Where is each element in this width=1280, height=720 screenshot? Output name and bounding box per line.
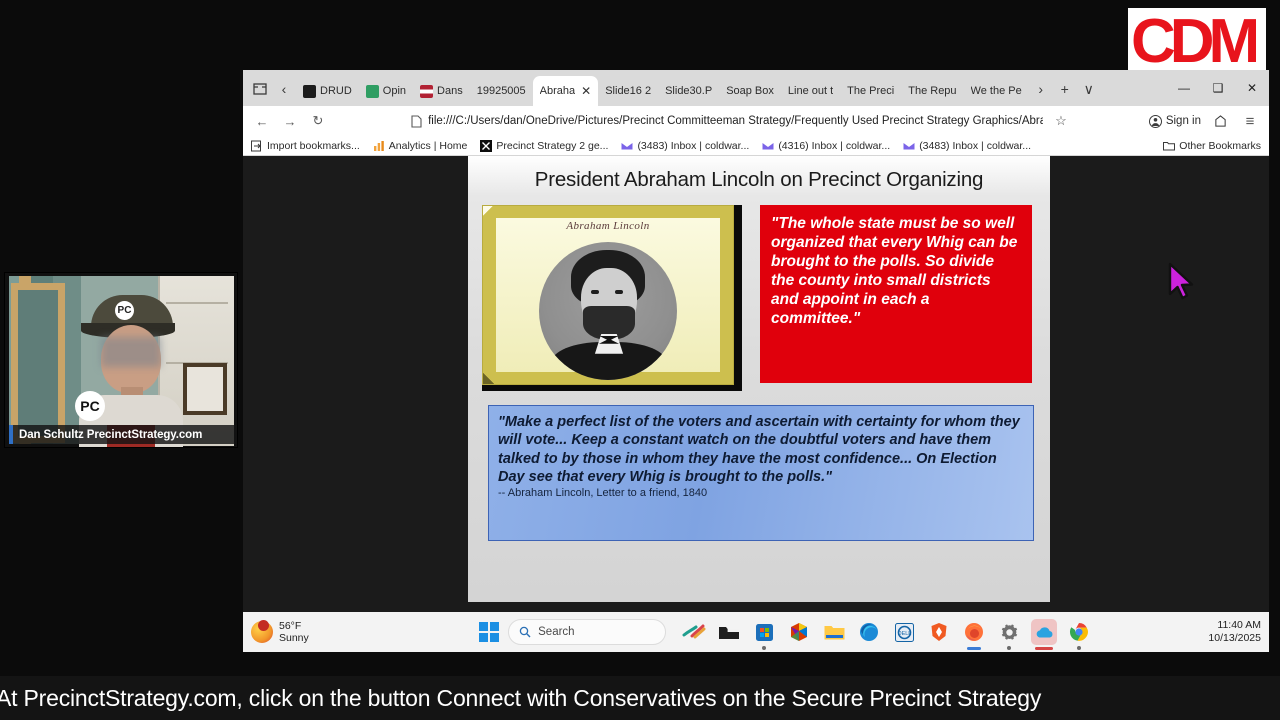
bookmark-label: (4316) Inbox | coldwar... xyxy=(778,140,890,152)
firefox-icon[interactable] xyxy=(961,619,987,645)
tab-list: DRUD Opin Dans 19925005 Abraha ✕ xyxy=(296,74,1167,106)
red-quote-box: "The whole state must be so well organiz… xyxy=(760,205,1032,383)
browser-window: ‹ DRUD Opin Dans 19925005 Ab xyxy=(243,70,1269,652)
minimize-button[interactable]: — xyxy=(1167,74,1201,102)
weather-temperature: 56°F xyxy=(279,620,309,632)
reload-icon[interactable]: ↻ xyxy=(307,110,329,132)
page-icon xyxy=(411,115,422,128)
dell-icon[interactable]: DELL xyxy=(891,619,917,645)
tab-slide30[interactable]: Slide30.P xyxy=(658,76,719,106)
drudge-favicon xyxy=(303,85,316,98)
import-icon xyxy=(251,140,263,152)
other-bookmarks-label: Other Bookmarks xyxy=(1179,140,1261,152)
bookmark-label: Analytics | Home xyxy=(389,140,468,152)
lincoln-portrait-frame: Abraham Lincoln xyxy=(482,205,742,391)
blue-quote-attribution: -- Abraham Lincoln, Letter to a friend, … xyxy=(498,487,1024,499)
webcam-overlay: PC PC Dan Schultz PrecinctStrategy.com xyxy=(4,272,238,448)
microsoft-365-icon[interactable] xyxy=(786,619,812,645)
tab-label: Slide16 2 xyxy=(605,85,651,97)
windows-taskbar: 56°F Sunny Search xyxy=(243,612,1269,652)
folder-icon xyxy=(1163,140,1175,152)
blue-quote-box: "Make a perfect list of the voters and a… xyxy=(488,405,1034,541)
slide-image: President Abraham Lincoln on Precinct Or… xyxy=(468,156,1050,602)
tab-label: Slide30.P xyxy=(665,85,712,97)
caption-text: At PrecinctStrategy.com, click on the bu… xyxy=(0,685,1041,712)
caption-bar: At PrecinctStrategy.com, click on the bu… xyxy=(0,676,1280,720)
speaker-name-bar: Dan Schultz PrecinctStrategy.com xyxy=(9,425,237,444)
microsoft-store-icon[interactable] xyxy=(751,619,777,645)
paint-icon[interactable] xyxy=(681,619,707,645)
weather-condition: Sunny xyxy=(279,632,309,644)
tab-label: Line out t xyxy=(788,85,833,97)
tab-lineout[interactable]: Line out t xyxy=(781,76,840,106)
cdm-logo: CDM xyxy=(1128,8,1266,78)
profile-icon xyxy=(1149,115,1162,128)
bookmark-import[interactable]: Import bookmarks... xyxy=(251,140,360,152)
lincoln-portrait xyxy=(539,242,677,380)
tab-label: 19925005 xyxy=(477,85,526,97)
lincoln-signature: Abraham Lincoln xyxy=(496,220,720,232)
bookmark-inbox-1[interactable]: (3483) Inbox | coldwar... xyxy=(621,140,749,152)
new-tab-button[interactable]: + xyxy=(1053,74,1077,104)
onedrive-icon[interactable] xyxy=(1031,619,1057,645)
tab-slide16[interactable]: Slide16 2 xyxy=(598,76,658,106)
tab-soapbox[interactable]: Soap Box xyxy=(719,76,781,106)
tab-the-republic[interactable]: The Repu xyxy=(901,76,963,106)
tab-abraham[interactable]: Abraha ✕ xyxy=(533,76,599,106)
bookmark-label: (3483) Inbox | coldwar... xyxy=(637,140,749,152)
flag-favicon xyxy=(420,85,433,98)
tab-list-menu-icon[interactable]: ∨ xyxy=(1077,74,1101,104)
tab-label: The Repu xyxy=(908,85,956,97)
tab-label: Soap Box xyxy=(726,85,774,97)
settings-icon[interactable] xyxy=(996,619,1022,645)
toolbar-right: Sign in ≡ xyxy=(1149,110,1261,132)
shirt-pc-badge: PC xyxy=(75,391,105,421)
mail-icon xyxy=(903,140,915,152)
letterbox-bottom xyxy=(0,652,1280,676)
cap-pc-badge: PC xyxy=(115,301,134,320)
other-bookmarks-button[interactable]: Other Bookmarks xyxy=(1163,140,1261,152)
tab-label: Dans xyxy=(437,85,463,97)
tab-dans[interactable]: Dans xyxy=(413,76,470,106)
blue-quote-text: "Make a perfect list of the voters and a… xyxy=(498,413,1024,487)
maximize-button[interactable]: ❑ xyxy=(1201,74,1235,102)
extensions-icon[interactable] xyxy=(1209,110,1231,132)
mouse-cursor xyxy=(1166,262,1196,309)
tab-opinion[interactable]: Opin xyxy=(359,76,413,106)
folder-icon[interactable] xyxy=(821,619,847,645)
taskbar-clock[interactable]: 11:40 AM 10/13/2025 xyxy=(1208,619,1261,645)
tab-the-precinct[interactable]: The Preci xyxy=(840,76,901,106)
opinion-favicon xyxy=(366,85,379,98)
weather-widget[interactable]: 56°F Sunny xyxy=(251,620,421,645)
slide-top-row: Abraham Lincoln xyxy=(468,195,1050,391)
sign-in-button[interactable]: Sign in xyxy=(1149,115,1201,128)
tab-drudge[interactable]: DRUD xyxy=(296,76,359,106)
address-bar[interactable]: file:///C:/Users/dan/OneDrive/Pictures/P… xyxy=(335,110,1143,132)
analytics-icon xyxy=(373,140,385,152)
tab-strip: ‹ DRUD Opin Dans 19925005 Ab xyxy=(243,70,1269,106)
tab-19925005[interactable]: 19925005 xyxy=(470,76,533,106)
bookmarks-bar: Import bookmarks... Analytics | Home Pre… xyxy=(243,136,1269,156)
bookmark-inbox-3[interactable]: (3483) Inbox | coldwar... xyxy=(903,140,1031,152)
clock-time: 11:40 AM xyxy=(1208,619,1261,632)
close-icon[interactable]: ✕ xyxy=(581,84,591,98)
tab-scroll-right-icon[interactable]: › xyxy=(1029,74,1053,104)
chrome-icon[interactable] xyxy=(1066,619,1092,645)
face-blur xyxy=(101,337,161,367)
bookmark-label: Precinct Strategy 2 ge... xyxy=(496,140,608,152)
start-button[interactable] xyxy=(479,622,499,642)
close-window-button[interactable]: ✕ xyxy=(1235,74,1269,102)
bookmark-analytics[interactable]: Analytics | Home xyxy=(373,140,468,152)
tab-label: We the Pe xyxy=(971,85,1022,97)
navigation-bar: ← → ↻ file:///C:/Users/dan/OneDrive/Pict… xyxy=(243,106,1269,136)
tab-scroll-left-icon[interactable]: ‹ xyxy=(272,74,296,104)
tab-search-icon[interactable] xyxy=(248,72,272,104)
bookmark-inbox-2[interactable]: (4316) Inbox | coldwar... xyxy=(762,140,890,152)
search-icon xyxy=(519,626,531,638)
x-icon xyxy=(480,140,492,152)
sign-in-label: Sign in xyxy=(1166,115,1201,127)
door-frame xyxy=(11,283,65,443)
mail-icon xyxy=(621,140,633,152)
svg-text:DELL: DELL xyxy=(897,631,911,637)
url-text: file:///C:/Users/dan/OneDrive/Pictures/P… xyxy=(428,115,1043,127)
tab-label: DRUD xyxy=(320,85,352,97)
forward-icon[interactable]: → xyxy=(279,110,301,132)
wall-picture xyxy=(183,363,227,415)
clock-date: 10/13/2025 xyxy=(1208,632,1261,645)
weather-sun-icon xyxy=(251,621,273,643)
tab-label: The Preci xyxy=(847,85,894,97)
mail-icon xyxy=(762,140,774,152)
taskbar-center: Search xyxy=(479,619,1092,645)
letterbox-right xyxy=(1269,70,1280,652)
edge-icon[interactable] xyxy=(856,619,882,645)
window-controls: — ❑ ✕ xyxy=(1167,74,1269,102)
page-viewport: President Abraham Lincoln on Precinct Or… xyxy=(243,156,1269,632)
bookmark-label: (3483) Inbox | coldwar... xyxy=(919,140,1031,152)
brave-icon[interactable] xyxy=(926,619,952,645)
letterbox-top xyxy=(0,0,1280,70)
taskbar-search[interactable]: Search xyxy=(508,619,666,645)
back-icon[interactable]: ← xyxy=(251,110,273,132)
screen: CDM PC PC Dan Schultz PrecinctStrategy.c… xyxy=(0,0,1280,720)
tab-label: Abraha xyxy=(540,85,575,97)
svg-text:CDM: CDM xyxy=(1131,14,1257,72)
bookmark-precinct-strategy[interactable]: Precinct Strategy 2 ge... xyxy=(480,140,608,152)
file-explorer-dark-icon[interactable] xyxy=(716,619,742,645)
tab-label: Opin xyxy=(383,85,406,97)
browser-menu-icon[interactable]: ≡ xyxy=(1239,110,1261,132)
search-placeholder: Search xyxy=(538,626,574,638)
tab-we-the-people[interactable]: We the Pe xyxy=(964,76,1029,106)
speaker-name: Dan Schultz PrecinctStrategy.com xyxy=(13,429,202,441)
bookmark-star-icon[interactable]: ☆ xyxy=(1055,113,1067,129)
bookmark-label: Import bookmarks... xyxy=(267,140,360,152)
slide-title: President Abraham Lincoln on Precinct Or… xyxy=(468,156,1050,195)
